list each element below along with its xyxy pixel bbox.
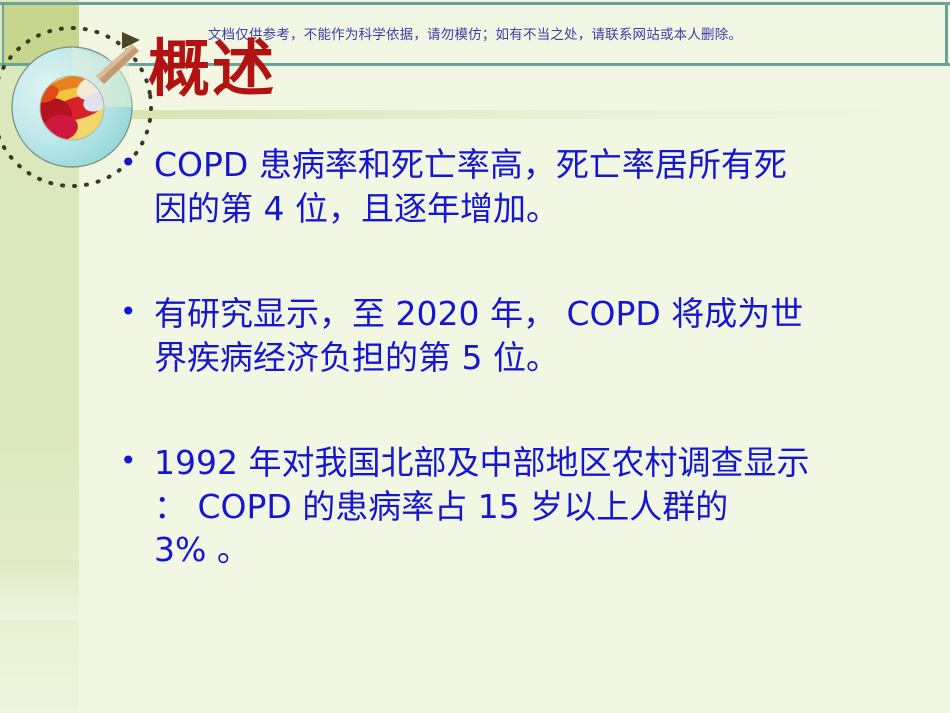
bullet-marker-icon: • — [120, 292, 154, 333]
bullet-text: 有研究显示，至 2020 年， COPD 将成为世 界疾病经济负担的第 5 位。 — [154, 292, 920, 379]
bullet-text: 1992 年对我国北部及中部地区农村调查显示 ： COPD 的患病率占 15 岁… — [154, 441, 920, 572]
bullet-line: 1992 年对我国北部及中部地区农村调查显示 — [154, 441, 920, 485]
bullet-marker-icon: • — [120, 441, 154, 482]
list-item: • COPD 患病率和死亡率高，死亡率居所有死 因的第 4 位，且逐年增加。 — [120, 143, 920, 230]
presentation-slide: 文档仅供参考，不能作为科学依据，请勿模仿；如有不当之处，请联系网站或本人删除。 … — [0, 0, 950, 713]
bullet-line: ： COPD 的患病率占 15 岁以上人群的 — [154, 485, 920, 529]
bullet-line: COPD 患病率和死亡率高，死亡率居所有死 — [154, 143, 920, 187]
bullet-marker-icon: • — [120, 143, 154, 184]
bullet-text: COPD 患病率和死亡率高，死亡率居所有死 因的第 4 位，且逐年增加。 — [154, 143, 920, 230]
bullet-line: 界疾病经济负担的第 5 位。 — [154, 336, 920, 380]
list-item: • 有研究显示，至 2020 年， COPD 将成为世 界疾病经济负担的第 5 … — [120, 292, 920, 379]
bullet-line: 有研究显示，至 2020 年， COPD 将成为世 — [154, 292, 920, 336]
list-item: • 1992 年对我国北部及中部地区农村调查显示 ： COPD 的患病率占 15… — [120, 441, 920, 572]
teal-rule-top — [0, 2, 950, 5]
slide-body: • COPD 患病率和死亡率高，死亡率居所有死 因的第 4 位，且逐年增加。 •… — [120, 143, 920, 572]
page-title: 概述 — [148, 38, 276, 100]
bullet-line: 3% 。 — [154, 528, 920, 572]
title-underline-band — [79, 110, 950, 119]
bullet-line: 因的第 4 位，且逐年增加。 — [154, 187, 920, 231]
left-column-lower-band — [0, 560, 79, 620]
disclaimer-text: 文档仅供参考，不能作为科学依据，请勿模仿；如有不当之处，请联系网站或本人删除。 — [0, 23, 950, 43]
